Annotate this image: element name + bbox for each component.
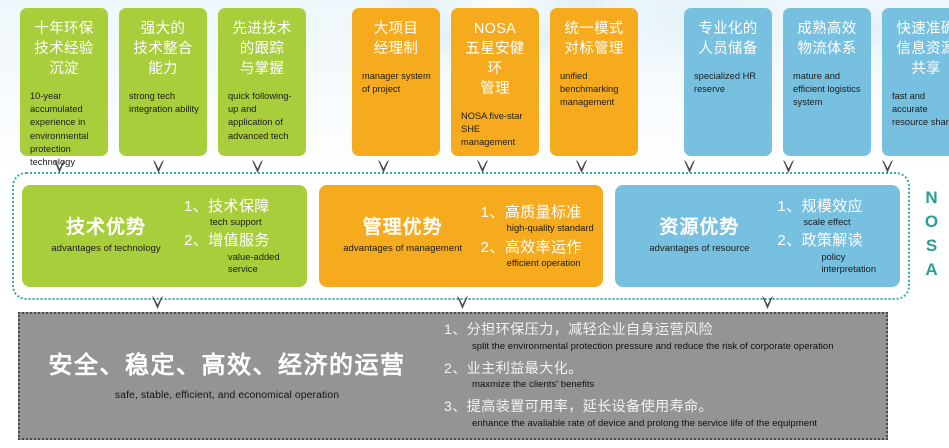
arrow-down-top-2 (152, 159, 165, 174)
advantage-heading: 技术优势 advantages of technology (28, 217, 178, 255)
card-group-management: 大项目经理制 manager system of project NOSA五星安… (352, 8, 638, 156)
arrow-down-top-9 (881, 159, 894, 174)
arrow-down-top-8 (782, 159, 795, 174)
summary-panel[interactable]: 安全、稳定、高效、经济的运营 safe, stable, efficient, … (18, 312, 888, 440)
advantage-panel-technology[interactable]: 技术优势 advantages of technology 1、技术保障 tec… (22, 185, 307, 287)
top-card-title-cn: 强大的技术整合能力 (133, 19, 192, 79)
infographic-stage: 十年环保技术经验沉淀 10-year accumulated experienc… (0, 0, 949, 448)
summary-item: 3、提高装置可用率，延长设备使用寿命。 enhance the avaliabl… (444, 398, 886, 430)
card-group-technology: 十年环保技术经验沉淀 10-year accumulated experienc… (20, 8, 306, 156)
advantage-item-cn: 2、增值服务 (184, 231, 301, 250)
top-card-row: 十年环保技术经验沉淀 10-year accumulated experienc… (0, 8, 949, 160)
advantage-item-cn: 2、高效率运作 (481, 238, 598, 257)
summary-title-cn: 安全、稳定、高效、经济的运营 (20, 351, 434, 381)
top-card-title-cn: 快速准确信息资源共享 (896, 19, 949, 79)
advantage-item: 1、高质量标准 high-quality standard (481, 203, 598, 234)
top-card-title-cn: 先进技术的跟踪与掌握 (232, 19, 291, 79)
advantage-heading: 管理优势 advantages of management (325, 217, 475, 255)
top-card-title-en: manager system of project (360, 70, 432, 96)
advantage-items: 1、高质量标准 high-quality standard 2、高效率运作 ef… (475, 203, 598, 269)
summary-items: 1、分担环保压力，减轻企业自身运营风险 split the environmen… (440, 321, 886, 430)
summary-item-en: split the environmental protection press… (444, 341, 886, 354)
top-card-tech-1[interactable]: 十年环保技术经验沉淀 10-year accumulated experienc… (20, 8, 108, 156)
top-card-title-en: mature and efficient logistics system (791, 70, 863, 110)
summary-heading: 安全、稳定、高效、经济的运营 safe, stable, efficient, … (20, 351, 440, 401)
advantage-items: 1、规模效应 scale effect 2、政策解读 policy interp… (771, 197, 894, 275)
advantage-item: 2、政策解读 policy interpretation (777, 231, 894, 275)
arrow-down-mid-1 (151, 295, 164, 310)
advantage-title-en: advantages of management (331, 243, 475, 255)
top-card-title-en: NOSA five-star SHE management (459, 110, 531, 150)
advantage-item: 1、规模效应 scale effect (777, 197, 894, 228)
top-card-tech-2[interactable]: 强大的技术整合能力 strong tech integration abilit… (119, 8, 207, 156)
arrow-down-mid-3 (761, 295, 774, 310)
advantage-item-en: scale effect (777, 216, 894, 228)
top-card-mgmt-2[interactable]: NOSA五星安健环管理 NOSA five-star SHE managemen… (451, 8, 539, 156)
top-card-title-en: fast and accurate resource sharing (890, 90, 949, 130)
top-card-title-en: 10-year accumulated experience in enviro… (28, 90, 100, 169)
advantage-items: 1、技术保障 tech support 2、增值服务 value-added s… (178, 197, 301, 275)
advantage-item-cn: 2、政策解读 (777, 231, 894, 250)
advantage-item-en: policy interpretation (777, 251, 894, 275)
advantage-item-en: tech support (184, 216, 301, 228)
top-card-title-cn: 专业化的人员储备 (698, 19, 757, 59)
summary-item-en: maxmize the clients' benefits (444, 379, 886, 392)
top-card-title-cn: 成熟高效物流体系 (797, 19, 856, 59)
advantage-item-en: efficient operation (481, 257, 598, 269)
nosa-side-label: NOSA (921, 188, 941, 284)
top-card-title-en: strong tech integration ability (127, 90, 199, 116)
top-card-title-cn: 大项目经理制 (374, 19, 418, 59)
arrow-down-top-6 (575, 159, 588, 174)
advantage-title-cn: 管理优势 (331, 217, 475, 240)
top-card-tech-3[interactable]: 先进技术的跟踪与掌握 quick following-up and applic… (218, 8, 306, 156)
advantage-heading: 资源优势 advantages of resource (621, 217, 771, 255)
summary-item-cn: 1、分担环保压力，减轻企业自身运营风险 (444, 321, 886, 339)
summary-item: 2、业主利益最大化。 maxmize the clients' benefits (444, 360, 886, 392)
top-card-mgmt-3[interactable]: 统一模式对标管理 unified benchmarking management (550, 8, 638, 156)
top-card-mgmt-1[interactable]: 大项目经理制 manager system of project (352, 8, 440, 156)
summary-item-en: enhance the avaliable rate of device and… (444, 418, 886, 431)
top-card-title-en: specialized HR reserve (692, 70, 764, 96)
advantages-band: 技术优势 advantages of technology 1、技术保障 tec… (12, 172, 910, 300)
advantage-panel-management[interactable]: 管理优势 advantages of management 1、高质量标准 hi… (319, 185, 604, 287)
top-card-title-en: quick following-up and application of ad… (226, 90, 298, 143)
top-card-res-1[interactable]: 专业化的人员储备 specialized HR reserve (684, 8, 772, 156)
arrow-down-top-3 (251, 159, 264, 174)
top-card-title-en: unified benchmarking management (558, 70, 630, 110)
arrow-down-top-7 (683, 159, 696, 174)
advantage-item-en: value-added service (184, 251, 301, 275)
advantage-item-cn: 1、高质量标准 (481, 203, 598, 222)
summary-item-cn: 2、业主利益最大化。 (444, 360, 886, 378)
advantage-item-en: high-quality standard (481, 222, 598, 234)
advantage-item: 2、增值服务 value-added service (184, 231, 301, 275)
advantage-title-cn: 资源优势 (627, 217, 771, 240)
summary-item: 1、分担环保压力，减轻企业自身运营风险 split the environmen… (444, 321, 886, 353)
advantage-item-cn: 1、规模效应 (777, 197, 894, 216)
top-card-res-2[interactable]: 成熟高效物流体系 mature and efficient logistics … (783, 8, 871, 156)
card-group-resource: 专业化的人员储备 specialized HR reserve 成熟高效物流体系… (684, 8, 949, 156)
advantage-item: 2、高效率运作 efficient operation (481, 238, 598, 269)
advantage-item-cn: 1、技术保障 (184, 197, 301, 216)
summary-title-en: safe, stable, efficient, and economical … (20, 390, 434, 401)
arrow-down-top-1 (53, 159, 66, 174)
advantage-title-en: advantages of technology (34, 243, 178, 255)
arrow-down-top-5 (476, 159, 489, 174)
advantage-panel-resource[interactable]: 资源优势 advantages of resource 1、规模效应 scale… (615, 185, 900, 287)
top-card-title-cn: 十年环保技术经验沉淀 (34, 19, 93, 79)
top-card-res-3[interactable]: 快速准确信息资源共享 fast and accurate resource sh… (882, 8, 949, 156)
top-card-title-cn: NOSA五星安健环管理 (459, 19, 531, 99)
advantage-title-en: advantages of resource (627, 243, 771, 255)
summary-item-cn: 3、提高装置可用率，延长设备使用寿命。 (444, 398, 886, 416)
top-card-title-cn: 统一模式对标管理 (564, 19, 623, 59)
advantage-item: 1、技术保障 tech support (184, 197, 301, 228)
arrow-down-top-4 (377, 159, 390, 174)
advantage-title-cn: 技术优势 (34, 217, 178, 240)
arrow-down-mid-2 (456, 295, 469, 310)
